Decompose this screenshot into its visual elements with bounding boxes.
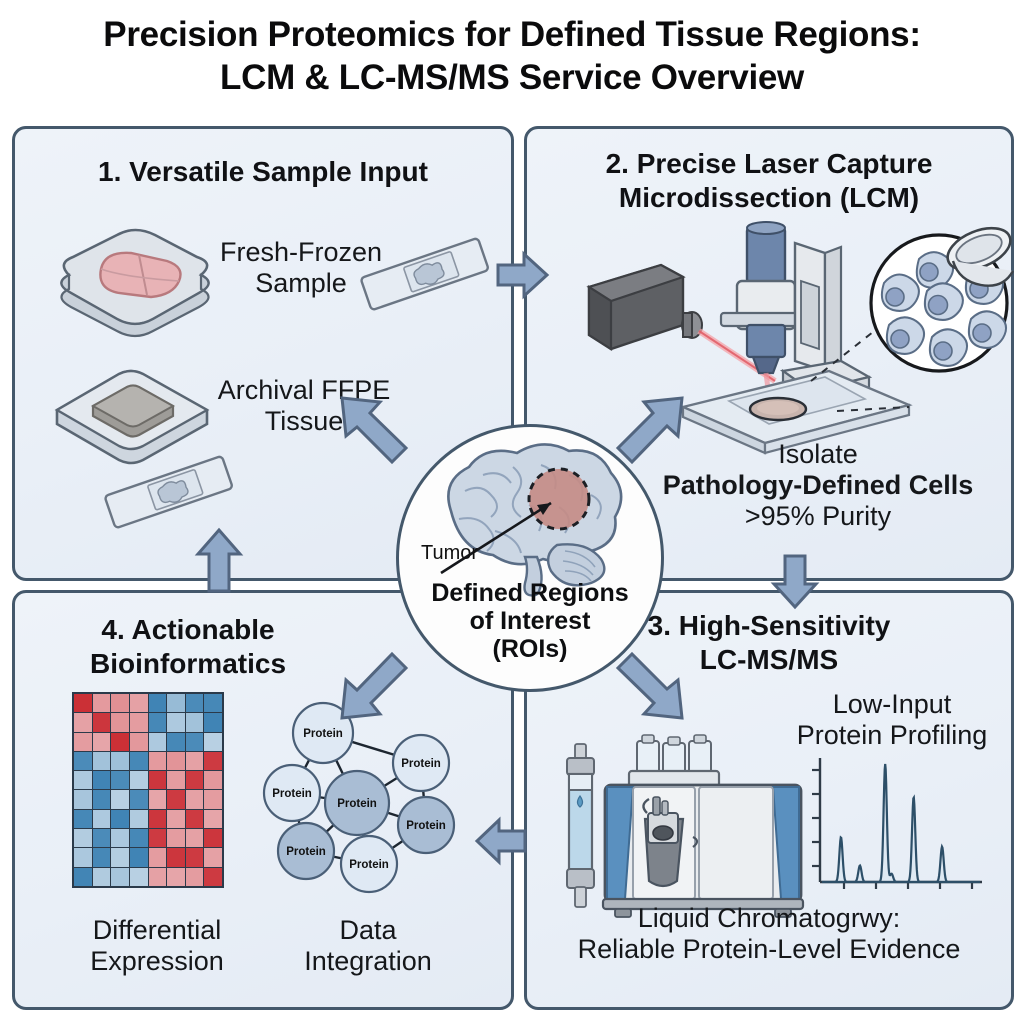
caption-line: Liquid Chromatogrwy: <box>527 903 1011 934</box>
chromatogram-plot <box>806 752 984 902</box>
brain-tumor-icon <box>425 445 639 595</box>
heatmap-cell <box>204 713 222 731</box>
svg-text:Protein: Protein <box>406 820 446 832</box>
heatmap-cell <box>74 733 92 751</box>
heatmap-cell <box>130 790 148 808</box>
panel2-title-line-1: 2. Precise Laser Capture <box>527 147 1011 181</box>
svg-text:Protein: Protein <box>401 758 441 770</box>
diagram-canvas: Precision Proteomics for Defined Tissue … <box>0 0 1024 1024</box>
title-line-1: Precision Proteomics for Defined Tissue … <box>103 15 920 54</box>
heatmap-cell <box>74 829 92 847</box>
heatmap-cell <box>74 752 92 770</box>
heatmap-cell <box>130 868 148 886</box>
arrow-hub-to-step1 <box>336 392 412 468</box>
heatmap-cell <box>149 810 167 828</box>
heatmap-cell <box>167 790 185 808</box>
heatmap-cell <box>149 868 167 886</box>
heatmap-cell <box>74 771 92 789</box>
heatmap-cell <box>186 829 204 847</box>
heatmap-cell <box>186 694 204 712</box>
heatmap-cell <box>186 733 204 751</box>
hub-line-2: of Interest <box>399 607 661 635</box>
panel3-caption-bottom: Liquid Chromatogrwy: Reliable Protein-Le… <box>527 903 1011 966</box>
heatmap-cell <box>93 733 111 751</box>
caption-line: Data <box>263 915 473 946</box>
protein-interaction-network: Protein Protein Protein Protein Protein … <box>256 700 466 896</box>
heatmap-cell <box>167 848 185 866</box>
lc-msms-instrument-illustration <box>549 741 811 923</box>
differential-expression-heatmap <box>72 692 224 888</box>
page-title: Precision Proteomics for Defined Tissue … <box>0 14 1024 99</box>
heatmap-cell <box>186 713 204 731</box>
heatmap-cell <box>204 694 222 712</box>
heatmap-cell <box>149 694 167 712</box>
heatmap-cell <box>130 694 148 712</box>
hub-line-3: (ROIs) <box>399 635 661 663</box>
heatmap-cell <box>74 848 92 866</box>
heatmap-cell <box>130 752 148 770</box>
heatmap-cell <box>93 829 111 847</box>
heatmap-cell <box>186 752 204 770</box>
svg-text:Protein: Protein <box>303 728 343 740</box>
heatmap-cell <box>167 829 185 847</box>
caption-line: Expression <box>57 946 257 977</box>
heatmap-cell <box>204 868 222 886</box>
heatmap-cell <box>167 694 185 712</box>
heatmap-cell <box>74 694 92 712</box>
title-line-2: LCM & LC-MS/MS Service Overview <box>0 57 1024 100</box>
heatmap-cell <box>186 790 204 808</box>
heatmap-cell <box>111 694 129 712</box>
caption-line: Differential <box>57 915 257 946</box>
heatmap-cell <box>74 790 92 808</box>
heatmap-cell <box>149 733 167 751</box>
heatmap-cell <box>111 829 129 847</box>
heatmap-cell <box>111 733 129 751</box>
heatmap-cell <box>149 848 167 866</box>
heatmap-cell <box>93 713 111 731</box>
arrow-step1-to-step2 <box>498 252 548 298</box>
central-roi-circle[interactable]: Tumor Defined Regions of Interest (ROIs) <box>396 424 664 692</box>
heatmap-cell <box>167 733 185 751</box>
heatmap-cell <box>204 733 222 751</box>
heatmap-cell <box>167 868 185 886</box>
heatmap-cell <box>204 752 222 770</box>
caption-line: >95% Purity <box>623 501 1013 532</box>
arrow-step3-to-step4 <box>476 818 526 864</box>
heatmap-cell <box>204 790 222 808</box>
tumor-label: Tumor <box>421 542 478 565</box>
heatmap-cell <box>167 771 185 789</box>
heatmap-cell <box>186 771 204 789</box>
heatmap-cell <box>74 713 92 731</box>
heatmap-cell <box>93 790 111 808</box>
heatmap-cell <box>111 790 129 808</box>
heatmap-cell <box>93 694 111 712</box>
caption-line-bold: Pathology-Defined Cells <box>623 470 1013 501</box>
heatmap-cell <box>93 810 111 828</box>
arrow-step4-to-step1 <box>196 530 242 592</box>
microscope-slide-icon <box>355 229 495 321</box>
panel4-caption-data-integration: Data Integration <box>263 915 473 978</box>
heatmap-cell <box>204 848 222 866</box>
panel1-title: 1. Versatile Sample Input <box>15 155 511 189</box>
microscope-slide-icon-2 <box>99 447 239 539</box>
svg-text:Protein: Protein <box>349 859 389 871</box>
svg-text:Protein: Protein <box>272 788 312 800</box>
heatmap-cell <box>149 829 167 847</box>
hub-line-1: Defined Regions <box>399 579 661 607</box>
heatmap-cell <box>93 752 111 770</box>
heatmap-cell <box>204 771 222 789</box>
panel2-title-line-2: Microdissection (LCM) <box>527 181 1011 215</box>
heatmap-cell <box>130 810 148 828</box>
heatmap-cell <box>149 713 167 731</box>
heatmap-cell <box>111 752 129 770</box>
panel2-title: 2. Precise Laser Capture Microdissection… <box>527 147 1011 214</box>
heatmap-cell <box>186 848 204 866</box>
svg-text:Protein: Protein <box>337 798 377 810</box>
heatmap-cell <box>204 829 222 847</box>
heatmap-cell <box>130 713 148 731</box>
caption-line: Low-Input <box>767 689 1017 720</box>
heatmap-cell <box>93 771 111 789</box>
heatmap-cell <box>111 868 129 886</box>
heatmap-cell <box>167 713 185 731</box>
heatmap-cell <box>93 848 111 866</box>
heatmap-cell <box>149 771 167 789</box>
heatmap-cell <box>111 848 129 866</box>
heatmap-cell <box>111 810 129 828</box>
heatmap-cell <box>111 713 129 731</box>
heatmap-cell <box>167 810 185 828</box>
arrow-step2-to-step3 <box>772 556 818 608</box>
heatmap-cell <box>130 848 148 866</box>
heatmap-cell <box>130 733 148 751</box>
heatmap-cell <box>186 868 204 886</box>
heatmap-cell <box>186 810 204 828</box>
heatmap-cell <box>204 810 222 828</box>
heatmap-cell <box>74 810 92 828</box>
panel4-caption-differential-expression: Differential Expression <box>57 915 257 978</box>
hub-caption: Defined Regions of Interest (ROIs) <box>399 579 661 663</box>
heatmap-cell <box>130 771 148 789</box>
svg-text:Protein: Protein <box>286 846 326 858</box>
heatmap-cell <box>149 790 167 808</box>
heatmap-cell <box>93 868 111 886</box>
heatmap-cell <box>130 829 148 847</box>
caption-line: Integration <box>263 946 473 977</box>
caption-line: Reliable Protein-Level Evidence <box>527 934 1011 965</box>
heatmap-cell <box>167 752 185 770</box>
heatmap-cell <box>149 752 167 770</box>
heatmap-cell <box>111 771 129 789</box>
heatmap-cell <box>74 868 92 886</box>
